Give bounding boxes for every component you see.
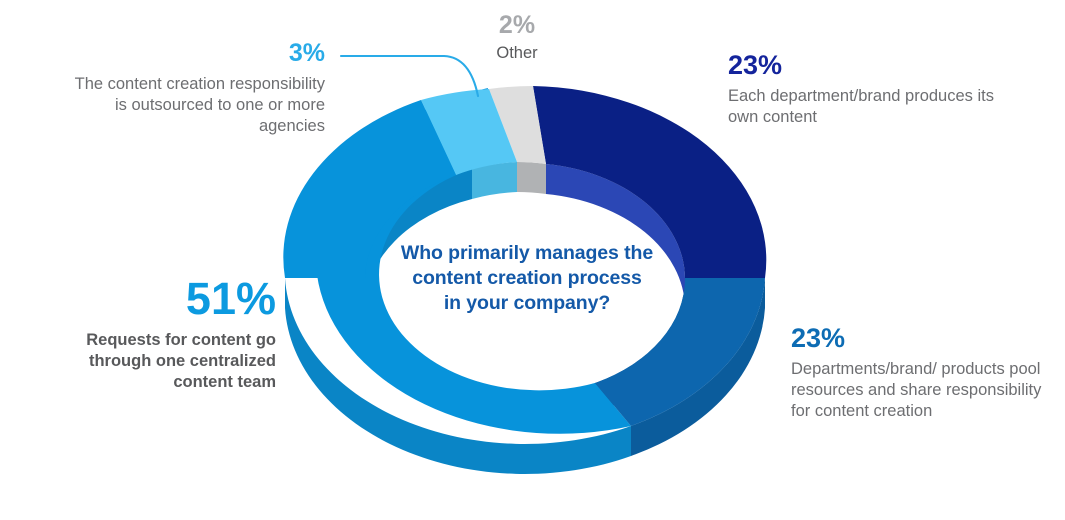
callout-centralized: 51% Requests for content go through one …	[28, 276, 276, 393]
callout-outsourced-description: The content creation responsibility is o…	[60, 74, 325, 137]
callout-centralized-description: Requests for content go through one cent…	[28, 330, 276, 393]
callout-pool-resources-percent: 23%	[791, 325, 1053, 352]
inner-depth-other	[517, 162, 546, 194]
callout-outsourced-percent: 3%	[60, 41, 325, 66]
callout-own-content-percent: 23%	[728, 52, 1028, 79]
infographic-donut-chart: Who primarily manages the content creati…	[0, 0, 1065, 520]
donut-top-faces	[283, 86, 766, 434]
callout-centralized-percent: 51%	[28, 276, 276, 321]
callout-outsourced: 3% The content creation responsibility i…	[60, 41, 325, 137]
callout-pool-resources-description: Departments/brand/ products pool resourc…	[791, 359, 1053, 422]
callout-pool-resources: 23% Departments/brand/ products pool res…	[791, 325, 1053, 422]
callout-other: 2% Other	[441, 13, 593, 64]
callout-own-content: 23% Each department/brand produces its o…	[728, 52, 1028, 128]
callout-other-percent: 2%	[441, 13, 593, 38]
callout-other-description: Other	[441, 43, 593, 64]
callout-own-content-description: Each department/brand produces its own c…	[728, 86, 1028, 128]
